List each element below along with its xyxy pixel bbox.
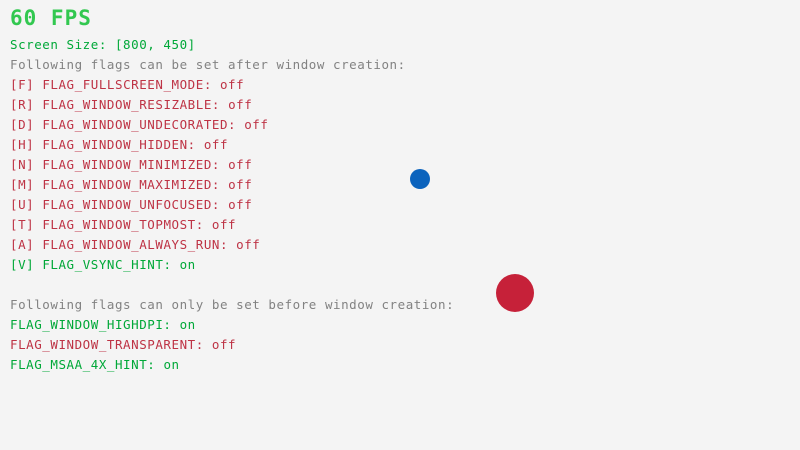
flag-row[interactable]: FLAG_WINDOW_TRANSPARENT: off — [10, 338, 236, 352]
flag-value: on — [180, 257, 196, 272]
startup-flags-heading: Following flags can only be set before w… — [10, 298, 454, 312]
runtime-flags-heading: Following flags can be set after window … — [10, 58, 406, 72]
screen-size-label: Screen Size: [800, 450] — [10, 38, 196, 52]
flag-row[interactable]: [V] FLAG_VSYNC_HINT: on — [10, 258, 196, 272]
flag-shortcut-key: [M] — [10, 177, 42, 192]
flag-name: FLAG_FULLSCREEN_MODE: — [42, 77, 220, 92]
flag-shortcut-key: [D] — [10, 117, 42, 132]
flag-name: FLAG_WINDOW_HIDDEN: — [42, 137, 204, 152]
flag-value: off — [204, 137, 228, 152]
flag-shortcut-key: [R] — [10, 97, 42, 112]
flag-shortcut-key: [F] — [10, 77, 42, 92]
flag-value: on — [163, 357, 179, 372]
large-red-circle — [496, 274, 534, 312]
flag-value: off — [212, 217, 236, 232]
flag-name: FLAG_WINDOW_ALWAYS_RUN: — [42, 237, 236, 252]
flag-value: on — [180, 317, 196, 332]
flag-name: FLAG_WINDOW_MAXIMIZED: — [42, 177, 228, 192]
flag-value: off — [212, 337, 236, 352]
flag-shortcut-key: [H] — [10, 137, 42, 152]
flag-name: FLAG_WINDOW_TRANSPARENT: — [10, 337, 212, 352]
flag-value: off — [236, 237, 260, 252]
flag-shortcut-key: [V] — [10, 257, 42, 272]
flag-name: FLAG_WINDOW_HIGHDPI: — [10, 317, 180, 332]
flag-value: off — [228, 177, 252, 192]
flag-shortcut-key: [A] — [10, 237, 42, 252]
small-blue-circle — [410, 169, 430, 189]
flag-row[interactable]: [F] FLAG_FULLSCREEN_MODE: off — [10, 78, 244, 92]
flag-row[interactable]: [N] FLAG_WINDOW_MINIMIZED: off — [10, 158, 252, 172]
flag-row[interactable]: [R] FLAG_WINDOW_RESIZABLE: off — [10, 98, 252, 112]
flag-value: off — [228, 97, 252, 112]
flag-shortcut-key: [U] — [10, 197, 42, 212]
flag-name: FLAG_MSAA_4X_HINT: — [10, 357, 163, 372]
raylib-window-canvas: 60 FPS Screen Size: [800, 450] Following… — [0, 0, 800, 450]
flag-name: FLAG_WINDOW_RESIZABLE: — [42, 97, 228, 112]
flag-row[interactable]: [M] FLAG_WINDOW_MAXIMIZED: off — [10, 178, 252, 192]
flag-name: FLAG_WINDOW_TOPMOST: — [42, 217, 212, 232]
flag-value: off — [220, 77, 244, 92]
flag-name: FLAG_VSYNC_HINT: — [42, 257, 179, 272]
flag-shortcut-key: [N] — [10, 157, 42, 172]
flag-value: off — [244, 117, 268, 132]
fps-counter: 60 FPS — [10, 6, 92, 30]
flag-value: off — [228, 197, 252, 212]
flag-row[interactable]: FLAG_MSAA_4X_HINT: on — [10, 358, 180, 372]
flag-name: FLAG_WINDOW_UNDECORATED: — [42, 117, 244, 132]
flag-row[interactable]: [D] FLAG_WINDOW_UNDECORATED: off — [10, 118, 268, 132]
flag-name: FLAG_WINDOW_MINIMIZED: — [42, 157, 228, 172]
flag-row[interactable]: FLAG_WINDOW_HIGHDPI: on — [10, 318, 196, 332]
flag-value: off — [228, 157, 252, 172]
flag-shortcut-key: [T] — [10, 217, 42, 232]
flag-row[interactable]: [H] FLAG_WINDOW_HIDDEN: off — [10, 138, 228, 152]
flag-row[interactable]: [T] FLAG_WINDOW_TOPMOST: off — [10, 218, 236, 232]
flag-name: FLAG_WINDOW_UNFOCUSED: — [42, 197, 228, 212]
flag-row[interactable]: [A] FLAG_WINDOW_ALWAYS_RUN: off — [10, 238, 260, 252]
flag-row[interactable]: [U] FLAG_WINDOW_UNFOCUSED: off — [10, 198, 252, 212]
